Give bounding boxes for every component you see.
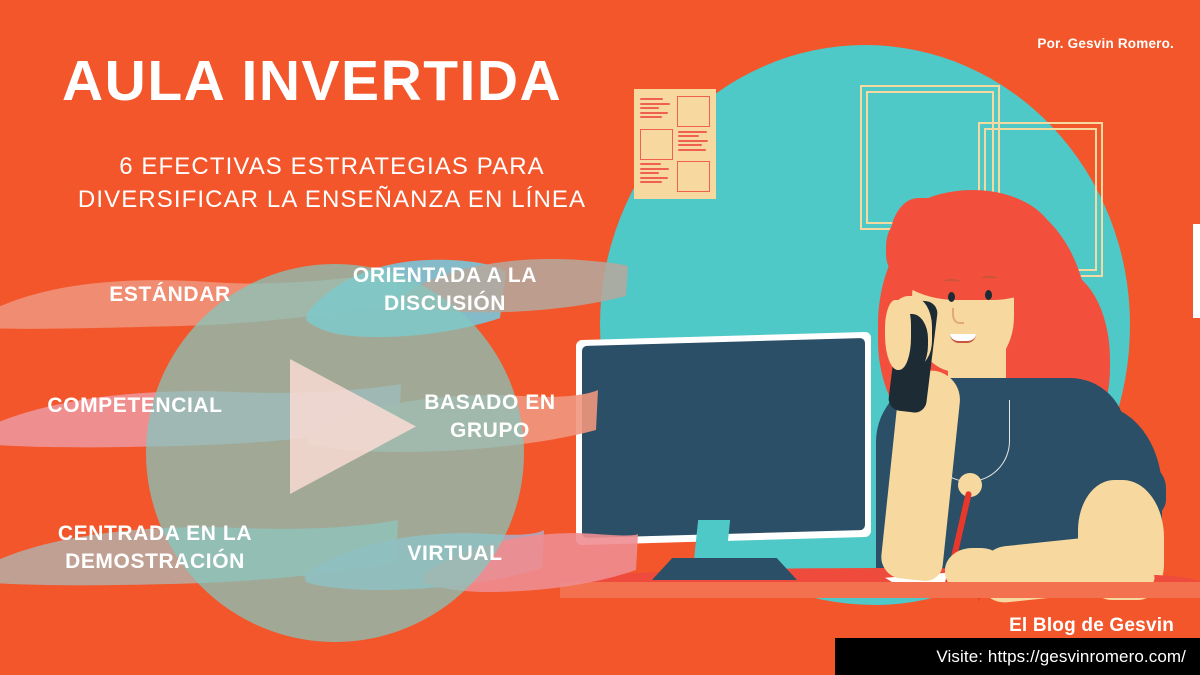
- text-line: [640, 98, 663, 100]
- strategy-label-basado-en-grupo: BASADO EN GRUPO: [390, 389, 590, 444]
- nose: [952, 308, 964, 324]
- cream-document: [634, 89, 716, 199]
- document-image-box: [677, 161, 710, 192]
- text-line: [640, 163, 661, 165]
- strategy-label-centrada-demostracion: CENTRADA EN LA DEMOSTRACIÓN: [20, 520, 290, 575]
- text-line: [640, 116, 662, 118]
- monitor-screen: [582, 338, 865, 538]
- website-url-bar[interactable]: Visite: https://gesvinromero.com/: [835, 638, 1200, 675]
- website-url-text: Visite: https://gesvinromero.com/: [936, 647, 1186, 667]
- illustration-panel: [560, 0, 1200, 675]
- fingers: [885, 300, 911, 370]
- text-line: [678, 149, 706, 151]
- text-line: [640, 112, 668, 114]
- text-line: [640, 103, 670, 105]
- document-row: [640, 96, 710, 127]
- page-title: AULA INVERTIDA: [62, 52, 562, 112]
- document-image-box: [677, 96, 710, 127]
- text-line: [678, 135, 699, 137]
- desk-front: [560, 582, 1200, 598]
- document-image-box: [640, 129, 673, 160]
- text-line: [640, 168, 669, 170]
- eyebrow-right: [981, 276, 998, 281]
- page-subtitle: 6 EFECTIVAS ESTRATEGIAS PARA DIVERSIFICA…: [62, 150, 602, 216]
- blog-name: El Blog de Gesvin: [1009, 615, 1174, 637]
- checklist-board: [1193, 224, 1200, 318]
- text-line: [678, 140, 708, 142]
- document-text-lines: [640, 96, 672, 118]
- text-line: [640, 172, 659, 174]
- text-line: [678, 131, 707, 133]
- eye-right: [985, 290, 992, 300]
- eyebrow-left: [943, 279, 960, 284]
- text-line: [640, 177, 668, 179]
- author-byline: Por. Gesvin Romero.: [1037, 36, 1174, 51]
- text-line: [640, 181, 662, 183]
- strategy-label-estandar: ESTÁNDAR: [70, 281, 270, 309]
- document-text-lines: [678, 129, 710, 151]
- document-text-lines: [640, 161, 672, 183]
- strategy-label-virtual: VIRTUAL: [370, 540, 540, 568]
- poster-canvas: AULA INVERTIDA 6 EFECTIVAS ESTRATEGIAS P…: [0, 0, 1200, 675]
- hair-fringe: [890, 198, 952, 288]
- document-row: [640, 129, 710, 160]
- strategy-label-orientada: ORIENTADA A LA DISCUSIÓN: [320, 262, 570, 317]
- text-line: [678, 144, 702, 146]
- document-row: [640, 161, 710, 192]
- monitor-base: [652, 558, 797, 580]
- text-line: [640, 107, 659, 109]
- eye-left: [948, 292, 955, 302]
- strategy-label-competencial: COMPETENCIAL: [10, 392, 260, 420]
